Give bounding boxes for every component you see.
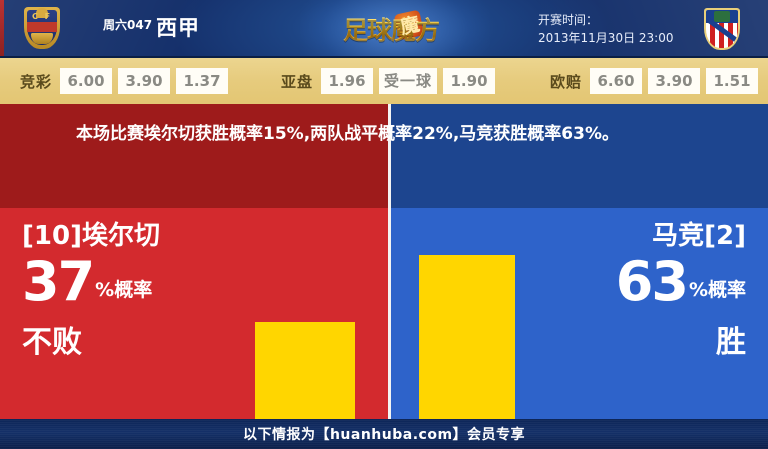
away-outcome-label: 胜 bbox=[616, 325, 746, 361]
away-team-crest-icon bbox=[700, 6, 744, 52]
odds-group-label: 亚盘 bbox=[281, 71, 313, 92]
odds-cell[interactable]: 6.60 bbox=[590, 68, 642, 94]
home-probability-value: 37 bbox=[22, 250, 93, 313]
odds-cell[interactable]: 1.90 bbox=[443, 68, 495, 94]
panel-divider bbox=[388, 208, 391, 419]
kickoff-value: 2013年11月30日 23:00 bbox=[538, 29, 673, 47]
odds-cell[interactable]: 3.90 bbox=[118, 68, 170, 94]
kickoff-time: 开赛时间： 2013年11月30日 23:00 bbox=[538, 11, 673, 47]
away-team-name: 马竞[2] bbox=[616, 220, 746, 252]
odds-group-jingcai: 竞彩 6.00 3.90 1.37 bbox=[20, 68, 234, 94]
odds-cell[interactable]: 1.51 bbox=[706, 68, 758, 94]
league-name: 西甲 bbox=[156, 16, 200, 40]
odds-group-european: 欧赔 6.60 3.90 1.51 bbox=[550, 68, 764, 94]
odds-cell[interactable]: 1.37 bbox=[176, 68, 228, 94]
home-team-stats: [10]埃尔切 37%概率 不败 bbox=[22, 220, 160, 361]
chart-bar-away bbox=[419, 255, 515, 419]
prediction-banner: 本场比赛埃尔切获胜概率15%,两队战平概率22%,马竞获胜概率63%。 bbox=[0, 104, 768, 208]
prediction-summary-text: 本场比赛埃尔切获胜概率15%,两队战平概率22%,马竞获胜概率63%。 bbox=[76, 119, 716, 149]
match-header: C F 周六047西甲 足球魔方 魔 开赛时间： 2013年11月30日 23:… bbox=[0, 0, 768, 58]
home-team-crest-icon: C F bbox=[20, 6, 64, 52]
odds-group-label: 欧赔 bbox=[550, 71, 582, 92]
odds-cell[interactable]: 6.00 bbox=[60, 68, 112, 94]
odds-cell[interactable]: 3.90 bbox=[648, 68, 700, 94]
odds-group-label: 竞彩 bbox=[20, 71, 52, 92]
odds-group-asian-handicap: 亚盘 1.96 受一球 1.90 bbox=[281, 68, 501, 94]
footer-membership-note: 以下情报为【huanhuba.com】会员专享 bbox=[243, 424, 525, 444]
odds-cell[interactable]: 1.96 bbox=[321, 68, 373, 94]
away-probability-suffix: %概率 bbox=[689, 279, 746, 301]
brand-logo-glyph: 魔 bbox=[396, 12, 424, 40]
home-team-name: [10]埃尔切 bbox=[22, 220, 160, 252]
probability-chart: [10]埃尔切 37%概率 不败 马竞[2] 63%概率 胜 bbox=[0, 208, 768, 419]
away-probability: 63%概率 bbox=[616, 254, 746, 323]
home-probability-suffix: %概率 bbox=[95, 279, 152, 301]
away-team-stats: 马竞[2] 63%概率 胜 bbox=[616, 220, 746, 361]
brand-logo-text: 足球魔方 bbox=[343, 11, 439, 47]
brand-logo[interactable]: 足球魔方 魔 bbox=[330, 8, 452, 50]
footer-bar: 以下情报为【huanhuba.com】会员专享 bbox=[0, 419, 768, 449]
round-label: 周六047 bbox=[103, 18, 152, 32]
chart-bar-home bbox=[255, 322, 355, 419]
kickoff-label: 开赛时间： bbox=[538, 11, 673, 29]
odds-cell-handicap[interactable]: 受一球 bbox=[379, 68, 437, 94]
home-outcome-label: 不败 bbox=[22, 325, 160, 361]
league-info: 周六047西甲 bbox=[103, 12, 200, 46]
home-probability: 37%概率 bbox=[22, 254, 160, 323]
odds-bar: 竞彩 6.00 3.90 1.37 亚盘 1.96 受一球 1.90 欧赔 6.… bbox=[0, 58, 768, 104]
away-probability-value: 63 bbox=[616, 250, 687, 313]
football-prediction-card: C F 周六047西甲 足球魔方 魔 开赛时间： 2013年11月30日 23:… bbox=[0, 0, 768, 449]
